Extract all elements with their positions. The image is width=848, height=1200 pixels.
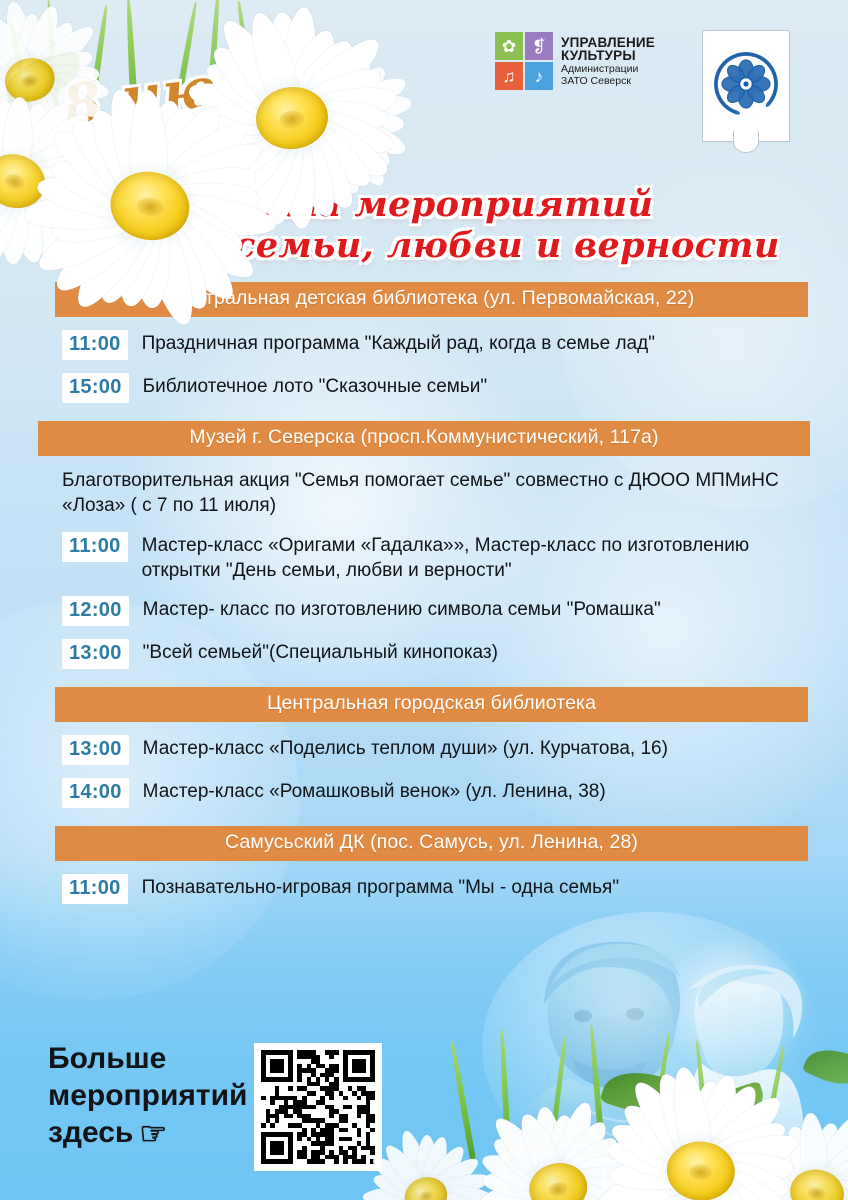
daisy-core: [525, 1159, 590, 1200]
daisy-petal: [488, 1131, 567, 1199]
daisy-petal: [318, 117, 345, 195]
daisy-petal: [544, 1114, 578, 1190]
daisy-petal: [326, 105, 411, 161]
page-title: Афиша мероприятий ко Дню семьи, любви и …: [0, 186, 848, 265]
event-title: Мастер-класс «Поделись теплом души» (ул.…: [143, 735, 792, 762]
event-row: 11:00Праздничная программа "Каждый рад, …: [0, 330, 818, 360]
daisy-petal: [1, 96, 34, 182]
daisy-petal: [625, 1074, 714, 1180]
cta-line-1: Больше: [48, 1040, 258, 1077]
qr-cell: [370, 1159, 375, 1164]
daisy-petal: [804, 1192, 837, 1200]
daisy-petal: [502, 1180, 569, 1200]
daisy-petal: [370, 1168, 429, 1200]
daisy-petal: [698, 1155, 792, 1200]
daisy-petal: [281, 105, 379, 196]
daisy-petal: [0, 95, 29, 184]
venue-header: Самусьский ДК (пос. Самусь, ул. Ленина, …: [55, 826, 808, 861]
daisy-petal: [284, 103, 395, 187]
event-time: 11:00: [62, 330, 128, 360]
daisy-petal: [550, 1177, 640, 1200]
grass-blade: [588, 1024, 606, 1159]
daisy-petal: [514, 1109, 571, 1193]
section-spacer: [0, 669, 848, 687]
daisy-petal: [744, 1155, 822, 1200]
logo-mark: ✿ ❡ ♫ ♪: [495, 32, 553, 90]
more-events-cta: Больше мероприятий здесь ☞: [48, 1040, 258, 1152]
daisy-petal: [488, 1178, 567, 1200]
logo-orange-quadrant: ♫: [495, 62, 523, 90]
daisy-petal: [686, 1165, 751, 1200]
daisy-petal: [691, 1159, 793, 1200]
logo-line-1: УПРАВЛЕНИЕ: [561, 36, 655, 50]
logo-line-3: Администрации: [561, 64, 655, 75]
daisy-petal: [423, 1186, 485, 1200]
daisy-petal: [553, 1145, 634, 1200]
leaf: [599, 1061, 686, 1125]
grass-blade: [5, 12, 37, 131]
daisy-petal: [685, 1079, 728, 1173]
daisy-petal: [813, 1181, 848, 1200]
page-title-line-2: ко Дню семьи, любви и верности: [0, 227, 848, 265]
daisy-flower: [598, 1068, 804, 1200]
event-row: 13:00"Всей семьей"(Специальный кинопоказ…: [0, 639, 818, 669]
daisy-petal: [531, 1104, 572, 1190]
daisy-petal: [0, 76, 41, 156]
daisy-petal: [420, 1152, 483, 1200]
daisy-petals: [598, 1068, 804, 1200]
daisy-petal: [606, 1114, 708, 1185]
music-note-icon: ♪: [525, 62, 553, 90]
daisy-petal: [557, 1174, 649, 1200]
daisy-petal: [414, 1196, 436, 1200]
daisy-petal: [781, 1123, 829, 1197]
daisy-petal: [629, 1162, 715, 1200]
crest-emblem: [702, 30, 790, 142]
event-title: Познавательно-игровая программа "Мы - од…: [142, 874, 792, 901]
page-title-line-1: Афиша мероприятий: [0, 186, 848, 224]
event-time: 11:00: [62, 874, 128, 904]
daisy-petal: [0, 116, 23, 193]
daisy-petal: [604, 1133, 704, 1186]
daisy-petal: [554, 1175, 634, 1200]
daisy-petal: [330, 104, 406, 136]
event-time: 15:00: [62, 373, 129, 403]
logo-line-2: КУЛЬТУРЫ: [561, 49, 655, 63]
logo-purple-quadrant: ❡: [525, 32, 553, 60]
event-title: Мастер-класс «Оригами «Гадалка»», Мастер…: [142, 532, 792, 583]
daisy-petal: [416, 1193, 456, 1200]
event-title: Праздничная программа "Каждый рад, когда…: [142, 330, 792, 357]
daisy-petal: [0, 99, 26, 191]
logo-blue-quadrant: ♪: [525, 62, 553, 90]
daisy-petal: [755, 1184, 826, 1200]
daisy-petal: [18, 13, 44, 80]
daisy-core: [299, 88, 363, 146]
daisy-petal: [547, 1115, 615, 1196]
daisy-petal: [321, 109, 392, 192]
daisy-petal: [323, 107, 397, 174]
daisy-petal: [288, 102, 398, 162]
daisy-petal: [809, 1183, 848, 1200]
grass-blade: [449, 1041, 476, 1160]
daisy-petal: [687, 1079, 766, 1179]
daisy-petals: [728, 1104, 848, 1200]
daisy-petal: [765, 1187, 828, 1200]
daisy-petal: [0, 90, 28, 188]
logo-wordmark: УПРАВЛЕНИЕ КУЛЬТУРЫ Администрации ЗАТО С…: [561, 36, 655, 87]
daisy-petal: [416, 1135, 438, 1196]
daisy-petal: [788, 1190, 829, 1200]
pointing-hand-icon: ☞: [139, 1118, 167, 1149]
daisy-petal: [376, 1190, 434, 1200]
event-title: Мастер-класс «Ромашковый венок» (ул. Лен…: [143, 778, 792, 805]
date-script: 8 июля: [59, 43, 308, 137]
culture-department-logo: ✿ ❡ ♫ ♪ УПРАВЛЕНИЕ КУЛЬТУРЫ Администраци…: [495, 32, 655, 90]
daisy-petal: [610, 1155, 702, 1192]
daisy-petal: [676, 1170, 717, 1200]
daisy-petal: [731, 1176, 817, 1200]
daisy-petal: [814, 1160, 848, 1200]
daisy-core: [664, 1139, 737, 1200]
daisy-petal: [610, 1159, 711, 1200]
event-title: "Всей семьей"(Специальный кинопоказ): [143, 639, 792, 666]
book-icon: ❡: [525, 32, 553, 60]
daisy-petal: [534, 1186, 571, 1200]
seversk-coat-of-arms: [702, 30, 790, 142]
event-time: 12:00: [62, 596, 129, 626]
daisy-petal: [798, 1112, 830, 1194]
daisy-petal: [701, 1152, 794, 1187]
daisy-petal: [694, 1156, 790, 1200]
daisy-petal: [764, 1130, 827, 1200]
venue-header: Музей г. Северска (просп.Коммунистически…: [38, 421, 810, 456]
venue-header: Центральная городская библиотека: [55, 687, 808, 722]
daisy-petal: [322, 60, 392, 126]
daisy-petal: [478, 1147, 562, 1200]
daisy-petals: [465, 1095, 650, 1200]
daisy-petal: [519, 1184, 571, 1200]
daisy-petal: [395, 1193, 435, 1200]
leaf: [802, 1039, 848, 1094]
daisy-petal: [0, 12, 40, 86]
daisy-petal: [548, 1179, 625, 1200]
daisy-petal: [479, 1175, 560, 1200]
venue-header: Центральная детская библиотека (ул. Перв…: [55, 282, 808, 317]
daisy-petal: [667, 1065, 717, 1174]
event-row: 13:00Мастер-класс «Поделись теплом души»…: [0, 735, 818, 765]
event-row: 15:00Библиотечное лото "Сказочные семьи": [0, 373, 818, 403]
grass-blade: [648, 1033, 671, 1150]
daisy-petal: [380, 1140, 434, 1200]
daisy-petal: [747, 1182, 823, 1200]
event-rows: 11:00Праздничная программа "Каждый рад, …: [0, 330, 848, 403]
cta-line-2: мероприятий: [48, 1077, 258, 1114]
daisy-petal: [686, 1072, 746, 1176]
grass-blade: [762, 1045, 786, 1144]
daisy-petal: [329, 90, 414, 129]
daisy-flower: [728, 1104, 848, 1200]
daisy-petal: [811, 1143, 848, 1200]
daisy-flower: [465, 1095, 650, 1200]
daisy-petal: [482, 1167, 559, 1200]
logo-line-4: ЗАТО Северск: [561, 76, 655, 87]
cta-line-3: здесь: [48, 1114, 133, 1151]
daisy-petal: [688, 1162, 772, 1200]
daisy-petal: [259, 106, 337, 164]
daisy-petal: [696, 1127, 802, 1187]
daisy-petal: [18, 77, 58, 151]
daisy-petal: [693, 1113, 791, 1185]
event-time: 13:00: [62, 639, 129, 669]
daisy-petal: [742, 1181, 820, 1200]
leaf: [696, 1081, 770, 1136]
daisy-petal: [0, 69, 35, 118]
qr-code[interactable]: [254, 1043, 382, 1171]
daisy-petal: [545, 1185, 586, 1200]
event-rows: 11:00Познавательно-игровая программа "Мы…: [0, 874, 848, 904]
daisy-petal: [816, 1180, 848, 1200]
cta-line-3-wrap: здесь ☞: [48, 1114, 258, 1151]
daisy-petal: [0, 71, 37, 130]
event-row: 11:00Познавательно-игровая программа "Мы…: [0, 874, 818, 904]
daisy-petal: [426, 1186, 490, 1200]
daisy-core: [0, 53, 59, 107]
daisy-petal: [369, 1188, 432, 1200]
daisy-petal: [268, 107, 340, 174]
schedule-list: Центральная детская библиотека (ул. Перв…: [0, 282, 848, 922]
daisy-core: [786, 1165, 848, 1200]
theatre-masks-icon: ♫: [495, 62, 523, 90]
daisy-petal: [556, 1161, 638, 1200]
daisy-petal: [0, 20, 38, 88]
section-spacer: [0, 904, 848, 922]
daisy-petal: [17, 80, 42, 154]
section-spacer: [0, 403, 848, 421]
daisy-petal: [807, 1186, 848, 1200]
daisy-petal: [315, 38, 343, 118]
daisy-petal: [319, 43, 362, 120]
venue-note: Благотворительная акция "Семья помогает …: [0, 456, 848, 519]
daisy-petal: [805, 1189, 848, 1200]
qr-code-matrix: [261, 1050, 375, 1164]
event-rows: 11:00Мастер-класс «Оригами «Гадалка»», М…: [0, 532, 848, 669]
daisy-petal: [320, 47, 379, 124]
event-rows: 13:00Мастер-класс «Поделись теплом души»…: [0, 735, 848, 808]
saints-svg: [452, 912, 848, 1200]
grass-blade: [548, 1037, 568, 1157]
daisy-petal: [0, 68, 31, 98]
daisy-petal: [0, 54, 33, 91]
daisy-petal: [690, 1088, 789, 1183]
daisy-petal: [603, 1157, 709, 1200]
daisy-petal: [805, 1121, 845, 1195]
saints-glow: [482, 912, 822, 1182]
event-time: 13:00: [62, 735, 129, 765]
daisy-petal: [19, 3, 65, 84]
daisy-petal: [363, 1186, 429, 1200]
daisy-petal: [1, 0, 42, 83]
daisy-petal: [0, 34, 35, 90]
daisy-petal: [418, 1190, 468, 1200]
daisy-petal: [423, 1168, 491, 1200]
daisy-petal: [396, 1128, 436, 1199]
daisy-petal: [808, 1128, 848, 1200]
daisy-petal: [806, 1112, 848, 1199]
daisy-petal: [656, 1166, 716, 1200]
daisy-petal: [616, 1095, 712, 1183]
grass-blade: [695, 1040, 711, 1150]
daisy-petal: [362, 1186, 426, 1200]
daisy-petal: [210, 105, 303, 193]
daisy-petal: [748, 1137, 825, 1200]
daisy-petal: [418, 1141, 470, 1200]
peter-and-fevronia-illustration: [452, 912, 848, 1200]
daisy-petal: [488, 1110, 569, 1196]
event-time: 14:00: [62, 778, 129, 808]
daisy-core: [400, 1172, 453, 1200]
daisy-petal: [474, 1176, 564, 1200]
daisy-petal: [1, 99, 54, 185]
daisy-petal: [685, 1168, 735, 1200]
daisy-petal: [0, 73, 40, 149]
daisy-petal: [546, 1182, 603, 1200]
event-title: Библиотечное лото "Сказочные семьи": [143, 373, 792, 400]
daisy-petal: [325, 70, 410, 129]
daisy-petal: [420, 1188, 485, 1200]
flower-icon: ✿: [495, 32, 523, 60]
daisy-petal: [650, 1069, 717, 1177]
logo-green-quadrant: ✿: [495, 32, 523, 60]
section-spacer: [0, 808, 848, 826]
event-time: 11:00: [62, 532, 128, 562]
event-title: Мастер- класс по изготовлению символа се…: [143, 596, 792, 623]
daisy-petal: [416, 1135, 452, 1199]
daisy-petal: [549, 1130, 624, 1199]
grass-blade: [499, 1028, 512, 1168]
event-row: 12:00Мастер- класс по изготовлению симво…: [0, 596, 818, 626]
daisy-petal: [595, 1156, 706, 1200]
event-row: 11:00Мастер-класс «Оригами «Гадалка»», М…: [0, 532, 818, 583]
poster-root: ✿ ❡ ♫ ♪ УПРАВЛЕНИЕ КУЛЬТУРЫ Администраци…: [0, 0, 848, 1200]
event-row: 14:00Мастер-класс «Ромашковый венок» (ул…: [0, 778, 818, 808]
daisy-petal: [545, 1099, 600, 1193]
